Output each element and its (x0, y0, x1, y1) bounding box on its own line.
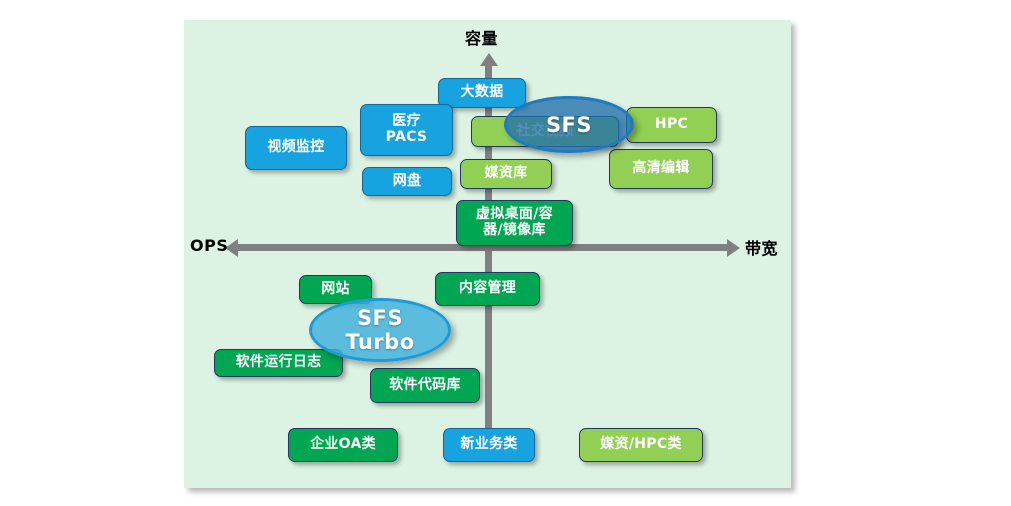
node-medical-pacs[interactable]: 医疗 PACS (360, 104, 453, 156)
node-software-run-log[interactable]: 软件运行日志 (214, 349, 343, 377)
node-media-hpc[interactable]: 媒资/HPC类 (579, 428, 703, 462)
node-new-business[interactable]: 新业务类 (443, 428, 535, 462)
node-video-surveillance[interactable]: 视频监控 (245, 126, 347, 170)
node-media-library[interactable]: 媒资库 (460, 159, 552, 189)
node-software-code-repo[interactable]: 软件代码库 (370, 368, 480, 403)
ellipse-sfs-turbo[interactable]: SFS Turbo (309, 298, 451, 362)
node-hpc[interactable]: HPC (626, 107, 717, 143)
node-hd-editing[interactable]: 高清编辑 (609, 149, 713, 189)
node-content-management[interactable]: 内容管理 (435, 272, 540, 306)
diagram-stage: 容量 OPS 带宽 大数据 社交视频 HPC 医疗 PACS 视频监控 网盘 媒… (0, 0, 1011, 506)
node-enterprise-oa[interactable]: 企业OA类 (288, 428, 398, 462)
capacity-axis-label: 容量 (465, 25, 498, 49)
node-virtual-desktop[interactable]: 虚拟桌面/容 器/镜像库 (456, 200, 573, 246)
bandwidth-axis-label: 带宽 (745, 235, 778, 259)
node-net-disk[interactable]: 网盘 (362, 167, 452, 196)
node-big-data[interactable]: 大数据 (438, 78, 526, 108)
ops-axis-label: OPS (190, 236, 228, 255)
bandwidth-axis-arrow-right (727, 239, 740, 257)
ellipse-sfs[interactable]: SFS (504, 96, 634, 153)
diagram-canvas: 容量 OPS 带宽 大数据 社交视频 HPC 医疗 PACS 视频监控 网盘 媒… (184, 20, 791, 488)
